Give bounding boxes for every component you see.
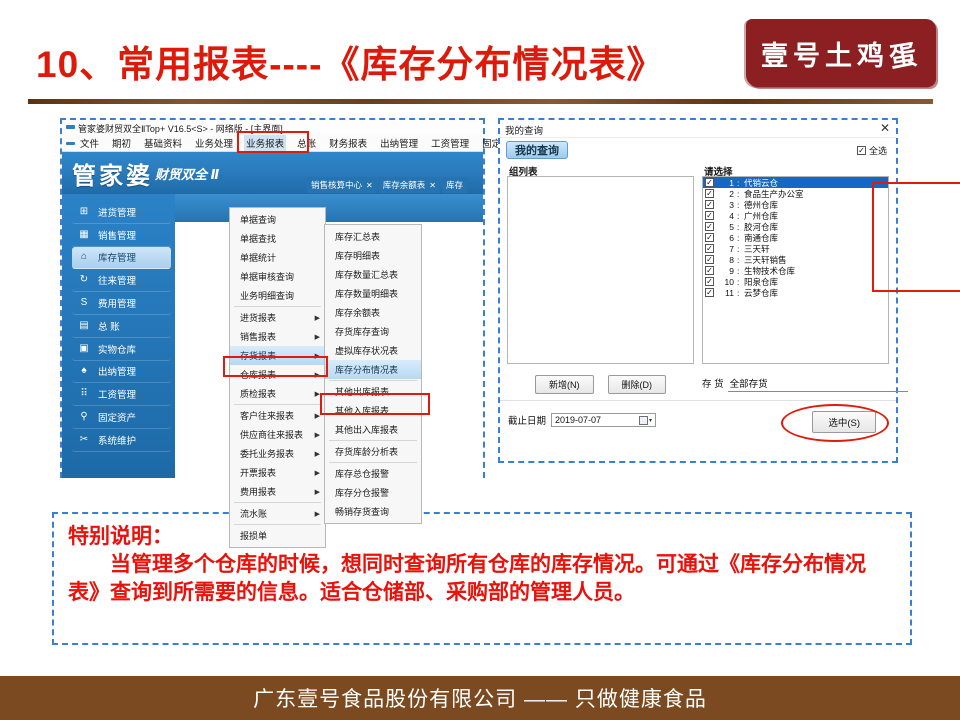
- refresh-icon: ↻: [78, 275, 90, 285]
- list-item-number: 3: [717, 200, 734, 210]
- dollar-icon: S: [78, 298, 90, 308]
- sidebar-item-label: 进货管理: [98, 205, 136, 219]
- menu-item-label: 存货报表: [240, 349, 276, 362]
- menu-separator: [329, 380, 417, 381]
- submenu-item-xunikucunzhuangkuangbiao[interactable]: 虚拟库存状况表: [325, 341, 421, 360]
- logo-char: 土: [825, 34, 857, 73]
- stock-filter-value[interactable]: 全部存货: [728, 376, 908, 392]
- list-item-colon: :: [737, 288, 741, 298]
- chevron-right-icon: ▶: [315, 352, 320, 360]
- sidebar-item-label: 销售管理: [98, 228, 136, 242]
- cart-icon: ⊞: [78, 207, 90, 217]
- erp-tab[interactable]: 库存: [442, 177, 467, 193]
- menu-item-liushuizhang[interactable]: 流水账▶: [230, 504, 325, 523]
- menu-qichu[interactable]: 期初: [110, 135, 133, 151]
- menu-item-label: 存货库存查询: [335, 325, 389, 338]
- chevron-right-icon: ▶: [315, 371, 320, 379]
- list-item-number: 1: [717, 178, 734, 188]
- menu-item-label: 客户往来报表: [240, 409, 294, 422]
- list-item-colon: :: [737, 277, 741, 287]
- list-item-colon: :: [737, 266, 741, 276]
- menu-separator: [329, 440, 417, 441]
- submenu-cunhuobaobiao[interactable]: 库存汇总表 库存明细表 库存数量汇总表 库存数量明细表 库存余额表 存货库存查询…: [324, 224, 422, 524]
- chevron-right-icon: ▶: [315, 314, 320, 322]
- list-item[interactable]: ✓ 6 : 南通仓库: [703, 232, 888, 243]
- dialog-titlebar: 我的查询 ✕: [500, 120, 896, 138]
- chevron-right-icon: ▶: [315, 510, 320, 518]
- erp-tab[interactable]: 销售核算中心 ✕: [307, 177, 377, 193]
- menu-item-label: 单据查询: [240, 213, 276, 226]
- menu-item-label: 仓库报表: [240, 368, 276, 381]
- menu-jichuziliao[interactable]: 基础资料: [142, 135, 184, 151]
- menu-gongziguanli[interactable]: 工资管理: [429, 135, 471, 151]
- cutoff-date-value: 2019-07-07: [555, 415, 601, 425]
- list-item[interactable]: ✓ 4 : 广州仓库: [703, 210, 888, 221]
- menu-item-label: 流水账: [240, 507, 267, 520]
- logo-char: 号: [793, 34, 825, 73]
- sidebar-item-kucunguanli[interactable]: ⌂ 库存管理: [72, 247, 171, 270]
- menu-item-feiyongbaobiao[interactable]: 费用报表▶: [230, 482, 325, 501]
- erp-title-text: 管家婆财贸双全ⅡTop+ V16.5<S> - 网络版 - [主界面]: [78, 124, 283, 134]
- submenu-item-kucunshulianghuizongbiao[interactable]: 库存数量汇总表: [325, 265, 421, 284]
- list-item-number: 11: [717, 288, 734, 298]
- erp-body: ⊞ 进货管理 ▦ 销售管理 ⌂ 库存管理 ↻ 往来管理 S 费用管理 ▤ 总: [62, 194, 483, 478]
- dialog-footer: 截止日期 2019-07-07 ▾ 选中(S): [500, 400, 896, 450]
- menu-item-label: 费用报表: [240, 485, 276, 498]
- submenu-item-cunhuokucunchaxun[interactable]: 存货库存查询: [325, 322, 421, 341]
- list-item-colon: :: [737, 222, 741, 232]
- menu-separator: [234, 524, 321, 525]
- calendar-icon[interactable]: ▾: [639, 416, 652, 425]
- menu-yewuchuli[interactable]: 业务处理: [193, 135, 235, 151]
- checkbox-icon[interactable]: ✓: [705, 178, 714, 187]
- tools-icon: ✂: [78, 435, 90, 445]
- erp-brand: 管家婆: [72, 156, 153, 191]
- cash-icon: ♠: [78, 366, 90, 376]
- erp-tab[interactable]: 库存余额表 ✕: [379, 177, 440, 193]
- list-item-number: 6: [717, 233, 734, 243]
- submenu-item-kucunfenbuqingkuangbiao[interactable]: 库存分布情况表: [325, 360, 421, 379]
- checkbox-icon[interactable]: ✓: [705, 200, 714, 209]
- menu-item-label: 质检报表: [240, 387, 276, 400]
- sitemap-icon: ⚲: [78, 412, 90, 422]
- close-icon[interactable]: ✕: [366, 181, 373, 190]
- submenu-item-cunhuokulingfenxibiao[interactable]: 存货库龄分析表: [325, 442, 421, 461]
- menu-chunaguanli[interactable]: 出纳管理: [378, 135, 420, 151]
- menu-item-danjuchaxun[interactable]: 单据查询: [230, 210, 325, 229]
- select-all-label: 全选: [869, 144, 887, 157]
- close-icon[interactable]: ✕: [429, 181, 436, 190]
- menu-separator: [234, 404, 321, 405]
- menu-item-label: 业务明细查询: [240, 289, 294, 302]
- chevron-right-icon: ▶: [315, 450, 320, 458]
- submenu-item-kucunzongcangbaojing[interactable]: 库存总仓报警: [325, 464, 421, 483]
- chart-icon: ▦: [78, 230, 90, 240]
- menu-separator: [329, 462, 417, 463]
- menu-item-yewumingxichaxun[interactable]: 业务明细查询: [230, 286, 325, 305]
- close-icon[interactable]: ✕: [880, 121, 890, 135]
- logo-char: 鸡: [857, 34, 889, 73]
- list-item-number: 8: [717, 255, 734, 265]
- home-icon: ⌂: [78, 252, 90, 262]
- sidebar-item-label: 费用管理: [98, 296, 136, 310]
- logo-char: 壹: [761, 34, 793, 73]
- menu-item-label: 畅销存货查询: [335, 505, 389, 518]
- checkbox-icon[interactable]: ✓: [705, 277, 714, 286]
- sidebar-item-label: 固定资产: [98, 410, 136, 424]
- sidebar-item-label: 系统维护: [98, 433, 136, 447]
- group-list-panel: 组列表 新增(N) 删除(D): [507, 164, 694, 400]
- menu-item-label: 其他入库报表: [335, 404, 389, 417]
- cutoff-date-label: 截止日期: [508, 413, 546, 427]
- checkbox-icon[interactable]: ✓: [705, 244, 714, 253]
- menu-item-label: 存货库龄分析表: [335, 445, 398, 458]
- menu-yewubaobiao[interactable]: 业务报表: [244, 135, 286, 151]
- sidebar-item-xitongweihu[interactable]: ✂ 系统维护: [72, 429, 171, 452]
- dropdown-menu-yewubaobiao[interactable]: 单据查询 单据查找 单据统计 单据审核查询 业务明细查询 进货报表▶ 销售报表▶…: [229, 207, 326, 548]
- menu-item-cangkubaobiao[interactable]: 仓库报表▶: [230, 365, 325, 384]
- list-item[interactable]: ✓ 1 : 代销云仓: [703, 177, 888, 188]
- chevron-right-icon: ▶: [315, 333, 320, 341]
- brand-logo: 壹 号 土 鸡 蛋: [746, 19, 936, 87]
- menu-item-label: 库存汇总表: [335, 230, 380, 243]
- chevron-right-icon: ▶: [315, 390, 320, 398]
- list-item[interactable]: ✓ 8 : 三天轩销售: [703, 254, 888, 265]
- erp-window-screenshot: 管家婆财贸双全ⅡTop+ V16.5<S> - 网络版 - [主界面] 文件 期…: [60, 118, 485, 478]
- calendar-glyph: [639, 416, 648, 425]
- menu-item-label: 单据查找: [240, 232, 276, 245]
- list-item-number: 5: [717, 222, 734, 232]
- grid-icon: ⠿: [78, 389, 90, 399]
- checkbox-icon[interactable]: ✓: [705, 233, 714, 242]
- erp-titlebar: 管家婆财贸双全ⅡTop+ V16.5<S> - 网络版 - [主界面]: [62, 120, 483, 135]
- erp-menubar: 文件 期初 基础资料 业务处理 业务报表 总账 财务报表 出纳管理 工资管理 固…: [62, 135, 483, 152]
- menu-item-zhijianbaobiao[interactable]: 质检报表▶: [230, 384, 325, 403]
- sidebar-item-label: 库存管理: [98, 250, 136, 264]
- erp-tab-label: 库存余额表: [383, 179, 426, 191]
- select-all-checkbox[interactable]: ✓ 全选: [857, 144, 887, 157]
- delete-button[interactable]: 删除(D): [608, 375, 667, 394]
- sidebar-item-xiaoshouguanli[interactable]: ▦ 销售管理: [72, 224, 171, 247]
- list-item[interactable]: ✓ 5 : 胶河仓库: [703, 221, 888, 232]
- choose-list-panel: 请选择 ✓ 1 : 代销云仓 ✓ 2 : 食品生产办公室 ✓ 3 :: [702, 164, 889, 400]
- sidebar-item-gongziguanli[interactable]: ⠿ 工资管理: [72, 383, 171, 406]
- submenu-item-qitarukubaobiao[interactable]: 其他入库报表: [325, 401, 421, 420]
- note-heading: 特别说明：: [68, 524, 896, 549]
- sidebar-item-jinhuoguanli[interactable]: ⊞ 进货管理: [72, 201, 171, 224]
- erp-banner: 管家婆 财贸双全 Ⅱ 销售核算中心 ✕ 库存余额表 ✕ 库存: [62, 152, 483, 194]
- submenu-item-kucunhuizongbiao[interactable]: 库存汇总表: [325, 227, 421, 246]
- menu-item-label: 库存明细表: [335, 249, 380, 262]
- submenu-item-qitachurukubaobiao[interactable]: 其他出入库报表: [325, 420, 421, 439]
- sidebar-item-shiwucangku[interactable]: ▣ 实物仓库: [72, 338, 171, 361]
- menu-item-label: 库存分仓报警: [335, 486, 389, 499]
- menu-item-baosundan[interactable]: 报损单: [230, 526, 325, 545]
- menu-item-label: 库存分布情况表: [335, 363, 398, 376]
- menu-item-xiaoshoubaobiao[interactable]: 销售报表▶: [230, 327, 325, 346]
- sidebar-item-chunaguanli[interactable]: ♠ 出纳管理: [72, 361, 171, 384]
- submenu-item-kucunmingxibiao[interactable]: 库存明细表: [325, 246, 421, 265]
- sidebar-item-label: 往来管理: [98, 273, 136, 287]
- sidebar-item-label: 工资管理: [98, 387, 136, 401]
- erp-brand-subtitle: 财贸双全 Ⅱ: [155, 164, 219, 183]
- title-divider: [28, 99, 933, 104]
- list-item-number: 9: [717, 266, 734, 276]
- query-dialog-screenshot: 我的查询 ✕ 我的查询 ✓ 全选 组列表 新增(N) 删除(D) 请选择 ✓ 1…: [498, 118, 898, 463]
- list-item-label: 云梦仓库: [744, 287, 778, 299]
- list-item-colon: :: [737, 200, 741, 210]
- list-item-colon: :: [737, 211, 741, 221]
- menu-item-label: 供应商往来报表: [240, 428, 303, 441]
- list-item[interactable]: ✓ 3 : 德州仓库: [703, 199, 888, 210]
- menu-wenjian[interactable]: 文件: [78, 135, 101, 151]
- cutoff-date-input[interactable]: 2019-07-07 ▾: [551, 413, 656, 427]
- sidebar-item-label: 总 账: [98, 319, 120, 333]
- tab-wodechaxun[interactable]: 我的查询: [506, 141, 568, 159]
- list-item-colon: :: [737, 189, 741, 199]
- checkbox-icon[interactable]: ✓: [705, 266, 714, 275]
- chevron-down-icon: ▾: [649, 417, 652, 424]
- menu-item-label: 其他出库报表: [335, 385, 389, 398]
- menu-item-gongyingshangwanglaibaobiao[interactable]: 供应商往来报表▶: [230, 425, 325, 444]
- list-item-number: 4: [717, 211, 734, 221]
- page-title: 10、常用报表----《库存分布情况表》: [36, 34, 664, 88]
- select-button[interactable]: 选中(S): [812, 411, 876, 433]
- submenu-item-qitachukubaobiao[interactable]: 其他出库报表: [325, 382, 421, 401]
- menu-zongzhang[interactable]: 总账: [295, 135, 318, 151]
- chevron-right-icon: ▶: [315, 412, 320, 420]
- erp-tab-label: 销售核算中心: [311, 179, 362, 191]
- dialog-title-text: 我的查询: [505, 126, 543, 137]
- menu-item-label: 库存余额表: [335, 306, 380, 319]
- dialog-panels: 组列表 新增(N) 删除(D) 请选择 ✓ 1 : 代销云仓 ✓ 2 :: [500, 162, 896, 400]
- list-item[interactable]: ✓ 7 : 三天轩: [703, 243, 888, 254]
- menu-item-jinhuobaobiao[interactable]: 进货报表▶: [230, 308, 325, 327]
- chevron-right-icon: ▶: [315, 431, 320, 439]
- logo-char: 蛋: [886, 31, 924, 75]
- chevron-right-icon: ▶: [315, 488, 320, 496]
- menu-item-label: 库存总仓报警: [335, 467, 389, 480]
- erp-sidebar: ⊞ 进货管理 ▦ 销售管理 ⌂ 库存管理 ↻ 往来管理 S 费用管理 ▤ 总: [62, 194, 175, 478]
- workspace-toolbar: [175, 194, 483, 222]
- submenu-item-kucunshuliangmingxibiao[interactable]: 库存数量明细表: [325, 284, 421, 303]
- window-icon: [66, 125, 75, 129]
- list-item-colon: :: [737, 255, 741, 265]
- menu-item-label: 其他出入库报表: [335, 423, 398, 436]
- chevron-right-icon: ▶: [315, 469, 320, 477]
- submenu-item-kucunyuebiao[interactable]: 库存余额表: [325, 303, 421, 322]
- menu-item-label: 报损单: [240, 529, 267, 542]
- submenu-item-kucunfencangbaojing[interactable]: 库存分仓报警: [325, 483, 421, 502]
- sidebar-item-gudingzichan[interactable]: ⚲ 固定资产: [72, 406, 171, 429]
- menu-item-label: 销售报表: [240, 330, 276, 343]
- submenu-item-changxiaocunhuochaxun[interactable]: 畅销存货查询: [325, 502, 421, 521]
- erp-tab-label: 库存: [446, 179, 463, 191]
- list-item-number: 2: [717, 189, 734, 199]
- list-item-number: 7: [717, 244, 734, 254]
- menu-item-weituoyewubaobiao[interactable]: 委托业务报表▶: [230, 444, 325, 463]
- list-item[interactable]: ✓ 2 : 食品生产办公室: [703, 188, 888, 199]
- menu-item-kehuwanglaibaobiao[interactable]: 客户往来报表▶: [230, 406, 325, 425]
- stock-filter-label: 存 货: [702, 376, 724, 390]
- menu-item-label: 单据统计: [240, 251, 276, 264]
- sidebar-item-label: 实物仓库: [98, 342, 136, 356]
- menu-item-label: 委托业务报表: [240, 447, 294, 460]
- group-list-box[interactable]: [507, 176, 694, 364]
- menu-item-label: 虚拟库存状况表: [335, 344, 398, 357]
- add-button[interactable]: 新增(N): [535, 375, 594, 394]
- menu-item-label: 开票报表: [240, 466, 276, 479]
- choose-list-box[interactable]: ✓ 1 : 代销云仓 ✓ 2 : 食品生产办公室 ✓ 3 : 德州仓库: [702, 176, 889, 364]
- cutoff-date-row: 截止日期 2019-07-07 ▾: [508, 413, 656, 427]
- checkbox-icon: ✓: [857, 146, 866, 155]
- dialog-tabrow: 我的查询 ✓ 全选: [500, 138, 896, 162]
- note-body: 当管理多个仓库的时候，想同时查询所有仓库的库存情况。可通过《库存分布情况表》查询…: [68, 550, 896, 606]
- menu-item-danjushenhechaxun[interactable]: 单据审核查询: [230, 267, 325, 286]
- menu-item-danjuchazhao[interactable]: 单据查找: [230, 229, 325, 248]
- footer-bar: 广东壹号食品股份有限公司 —— 只做健康食品: [0, 676, 960, 720]
- menu-item-label: 库存数量明细表: [335, 287, 398, 300]
- checkbox-icon[interactable]: ✓: [705, 222, 714, 231]
- stock-filter-row: 存 货 全部存货: [702, 376, 908, 392]
- list-item-colon: :: [737, 233, 741, 243]
- menu-separator: [234, 306, 321, 307]
- list-item-colon: :: [737, 244, 741, 254]
- menu-item-label: 进货报表: [240, 311, 276, 324]
- box-icon: ▣: [78, 344, 90, 354]
- sidebar-item-feiyongguanli[interactable]: S 费用管理: [72, 292, 171, 315]
- menu-item-label: 单据审核查询: [240, 270, 294, 283]
- sidebar-item-wanglaiguanli[interactable]: ↻ 往来管理: [72, 269, 171, 292]
- erp-tabbar: 销售核算中心 ✕ 库存余额表 ✕ 库存: [307, 152, 483, 194]
- list-item-colon: :: [737, 178, 741, 188]
- menu-caiwubaobiao[interactable]: 财务报表: [327, 135, 369, 151]
- list-item[interactable]: ✓ 10 : 阳泉仓库: [703, 276, 888, 287]
- menu-item-kaipiaobaobiao[interactable]: 开票报表▶: [230, 463, 325, 482]
- special-note-box: 特别说明： 当管理多个仓库的时候，想同时查询所有仓库的库存情况。可通过《库存分布…: [52, 512, 912, 645]
- menu-separator: [234, 502, 321, 503]
- checkbox-icon[interactable]: ✓: [705, 189, 714, 198]
- list-item[interactable]: ✓ 9 : 生物技术仓库: [703, 265, 888, 276]
- group-list-buttons: 新增(N) 删除(D): [507, 375, 694, 394]
- list-item[interactable]: ✓ 11 : 云梦仓库: [703, 287, 888, 298]
- ledger-icon: ▤: [78, 321, 90, 331]
- checkbox-icon[interactable]: ✓: [705, 211, 714, 220]
- sidebar-item-zongzhang[interactable]: ▤ 总 账: [72, 315, 171, 338]
- menu-item-danjutongji[interactable]: 单据统计: [230, 248, 325, 267]
- checkbox-icon[interactable]: ✓: [705, 288, 714, 297]
- menu-item-label: 库存数量汇总表: [335, 268, 398, 281]
- footer-text: 广东壹号食品股份有限公司 —— 只做健康食品: [253, 683, 707, 713]
- menu-window-icon: [66, 142, 75, 145]
- list-item-number: 10: [717, 277, 734, 287]
- sidebar-item-label: 出纳管理: [98, 364, 136, 378]
- menu-item-cunhuobaobiao[interactable]: 存货报表▶: [230, 346, 325, 365]
- checkbox-icon[interactable]: ✓: [705, 255, 714, 264]
